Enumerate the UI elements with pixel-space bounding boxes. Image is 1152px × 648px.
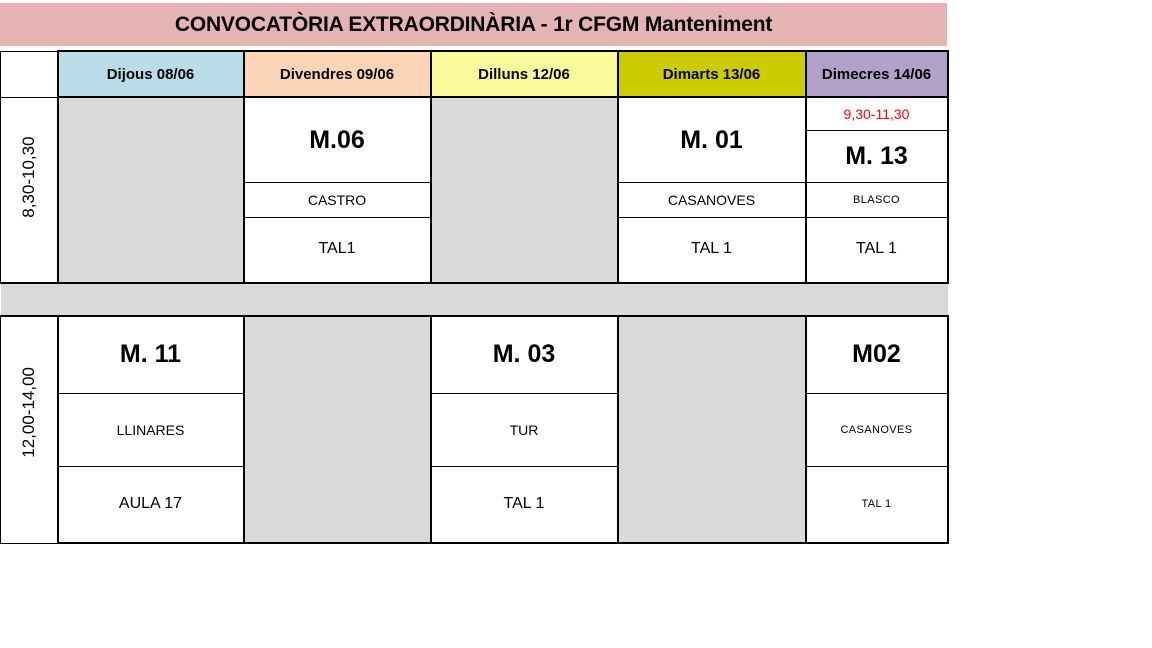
slot-dimecres-midday[interactable]: M02 CASANOVES TAL 1	[806, 316, 948, 544]
slot-module: M.06	[245, 99, 430, 183]
slot-teacher: BLASCO	[807, 183, 947, 218]
slot-room: TAL 1	[432, 467, 617, 542]
time-label-cell-morning: 8,30-10,30	[1, 97, 58, 283]
day-header-dijous[interactable]: Dijous 08/06	[58, 51, 244, 97]
slot-dimarts-morning[interactable]: M. 01 CASANOVES TAL 1	[618, 97, 806, 283]
slot-module: M. 11	[59, 317, 243, 394]
slot-module: M. 13	[807, 131, 947, 183]
slot-room: TAL 1	[807, 218, 947, 281]
day-header-dimarts[interactable]: Dimarts 13/06	[618, 51, 806, 97]
block-separator-cell	[1, 283, 58, 316]
day-header-dimecres[interactable]: Dimecres 14/06	[806, 51, 948, 97]
slot-dimecres-morning[interactable]: 9,30-11,30 M. 13 BLASCO TAL 1	[806, 97, 948, 283]
block-separator-cell	[58, 283, 244, 316]
corner-blank-cell	[1, 51, 58, 97]
slot-teacher: TUR	[432, 394, 617, 467]
slot-room: TAL 1	[619, 218, 805, 281]
slot-module: M02	[807, 317, 947, 394]
slot-room: TAL 1	[807, 467, 947, 542]
schedule-row-midday: 12,00-14,00 M. 11 LLINARES AULA 17 M. 03…	[1, 316, 948, 544]
block-separator-cell	[618, 283, 806, 316]
slot-teacher: CASANOVES	[807, 394, 947, 467]
slot-module: M. 01	[619, 99, 805, 183]
slot-time-note: 9,30-11,30	[807, 99, 947, 131]
schedule-row-morning: 8,30-10,30 M.06 CASTRO TAL1 M. 01 CASANO…	[1, 97, 948, 283]
day-header-divendres[interactable]: Divendres 09/06	[244, 51, 431, 97]
day-header-row: Dijous 08/06 Divendres 09/06 Dilluns 12/…	[1, 51, 948, 97]
slot-divendres-midday-empty	[244, 316, 431, 544]
slot-module: M. 03	[432, 317, 617, 394]
block-separator-cell	[244, 283, 431, 316]
block-separator-cell	[431, 283, 618, 316]
slot-dijous-morning-empty	[58, 97, 244, 283]
slot-teacher: CASANOVES	[619, 183, 805, 218]
block-separator-row	[1, 283, 948, 316]
block-separator-cell	[806, 283, 948, 316]
time-label-midday: 12,00-14,00	[19, 402, 39, 458]
time-label-cell-midday: 12,00-14,00	[1, 316, 58, 544]
slot-divendres-morning[interactable]: M.06 CASTRO TAL1	[244, 97, 431, 283]
slot-dijous-midday[interactable]: M. 11 LLINARES AULA 17	[58, 316, 244, 544]
time-label-morning: 8,30-10,30	[19, 162, 39, 218]
slot-room: TAL1	[245, 218, 430, 281]
page-title: CONVOCATÒRIA EXTRAORDINÀRIA - 1r CFGM Ma…	[175, 13, 772, 37]
slot-room: AULA 17	[59, 467, 243, 542]
page-title-banner: CONVOCATÒRIA EXTRAORDINÀRIA - 1r CFGM Ma…	[0, 3, 947, 46]
slot-dilluns-midday[interactable]: M. 03 TUR TAL 1	[431, 316, 618, 544]
exam-schedule-table: Dijous 08/06 Divendres 09/06 Dilluns 12/…	[0, 50, 949, 544]
slot-dilluns-morning-empty	[431, 97, 618, 283]
day-header-dilluns[interactable]: Dilluns 12/06	[431, 51, 618, 97]
slot-teacher: CASTRO	[245, 183, 430, 218]
slot-teacher: LLINARES	[59, 394, 243, 467]
slot-dimarts-midday-empty	[618, 316, 806, 544]
